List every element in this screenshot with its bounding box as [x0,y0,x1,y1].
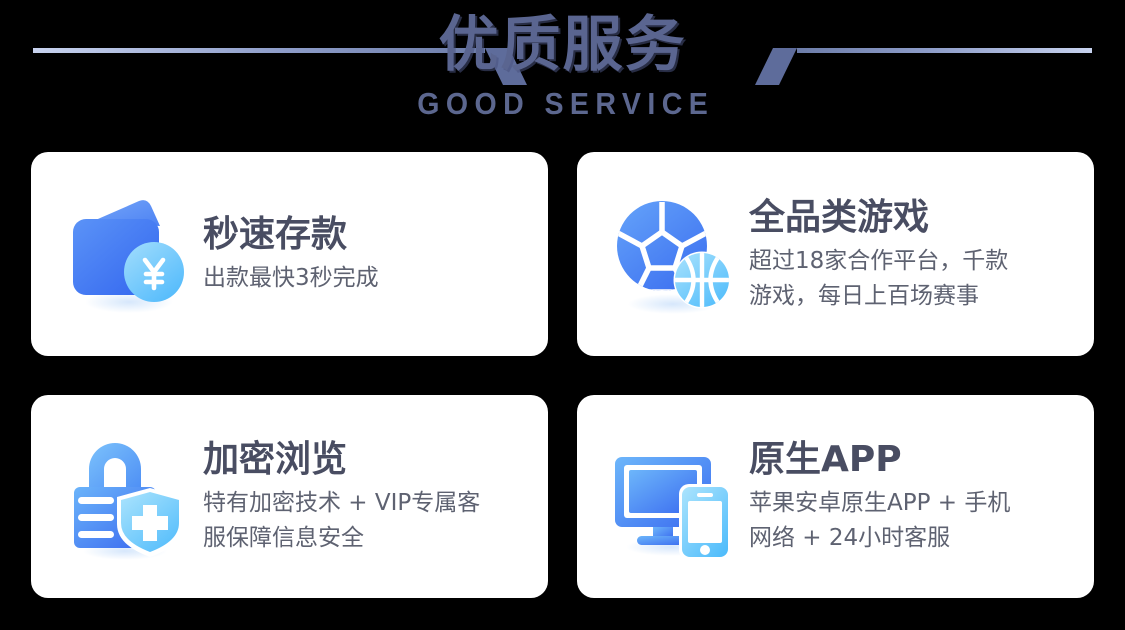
monitor-phone-icon [607,431,739,563]
header-title-block: 优质服务 GOOD SERVICE [0,8,1125,122]
card-text-block: 加密浏览 特有加密技术 + VIP专属客 服保障信息安全 [193,437,530,556]
card-subtitle-line: 出款最快3秒完成 [203,261,530,296]
card-subtitle-line: 超过18家合作平台，千款 [749,244,1076,279]
card-subtitle-line: 苹果安卓原生APP + 手机 [749,486,1076,521]
card-text-block: 原生APP 苹果安卓原生APP + 手机 网络 + 24小时客服 [739,437,1076,556]
card-subtitle-line: 网络 + 24小时客服 [749,521,1076,556]
card-text-block: 秒速存款 出款最快3秒完成 [193,212,530,296]
card-title: 秒速存款 [203,212,530,258]
feature-card-games[interactable]: 全品类游戏 超过18家合作平台，千款 游戏，每日上百场赛事 [577,152,1094,356]
feature-card-deposit[interactable]: 秒速存款 出款最快3秒完成 [31,152,548,356]
promo-banner: 优质服务 GOOD SERVICE [0,0,1125,630]
card-subtitle-line: 游戏，每日上百场赛事 [749,279,1076,314]
card-text-block: 全品类游戏 超过18家合作平台，千款 游戏，每日上百场赛事 [739,195,1076,314]
wallet-yen-icon [61,188,193,320]
card-title: 全品类游戏 [749,195,1076,241]
card-subtitle-line: 服保障信息安全 [203,521,530,556]
card-subtitle: 出款最快3秒完成 [203,261,530,296]
card-title: 加密浏览 [203,437,530,483]
feature-card-encryption[interactable]: 加密浏览 特有加密技术 + VIP专属客 服保障信息安全 [31,395,548,598]
header: 优质服务 GOOD SERVICE [0,0,1125,140]
header-title-english: GOOD SERVICE [45,86,1080,122]
card-subtitle: 特有加密技术 + VIP专属客 服保障信息安全 [203,486,530,556]
header-title-chinese: 优质服务 [0,8,1125,82]
lock-shield-icon [61,431,193,563]
card-title: 原生APP [749,437,1076,483]
card-subtitle: 超过18家合作平台，千款 游戏，每日上百场赛事 [749,244,1076,314]
feature-card-grid: 秒速存款 出款最快3秒完成 [31,152,1094,598]
soccer-basketball-icon [607,188,739,320]
feature-card-native-app[interactable]: 原生APP 苹果安卓原生APP + 手机 网络 + 24小时客服 [577,395,1094,598]
card-subtitle: 苹果安卓原生APP + 手机 网络 + 24小时客服 [749,486,1076,556]
card-subtitle-line: 特有加密技术 + VIP专属客 [203,486,530,521]
